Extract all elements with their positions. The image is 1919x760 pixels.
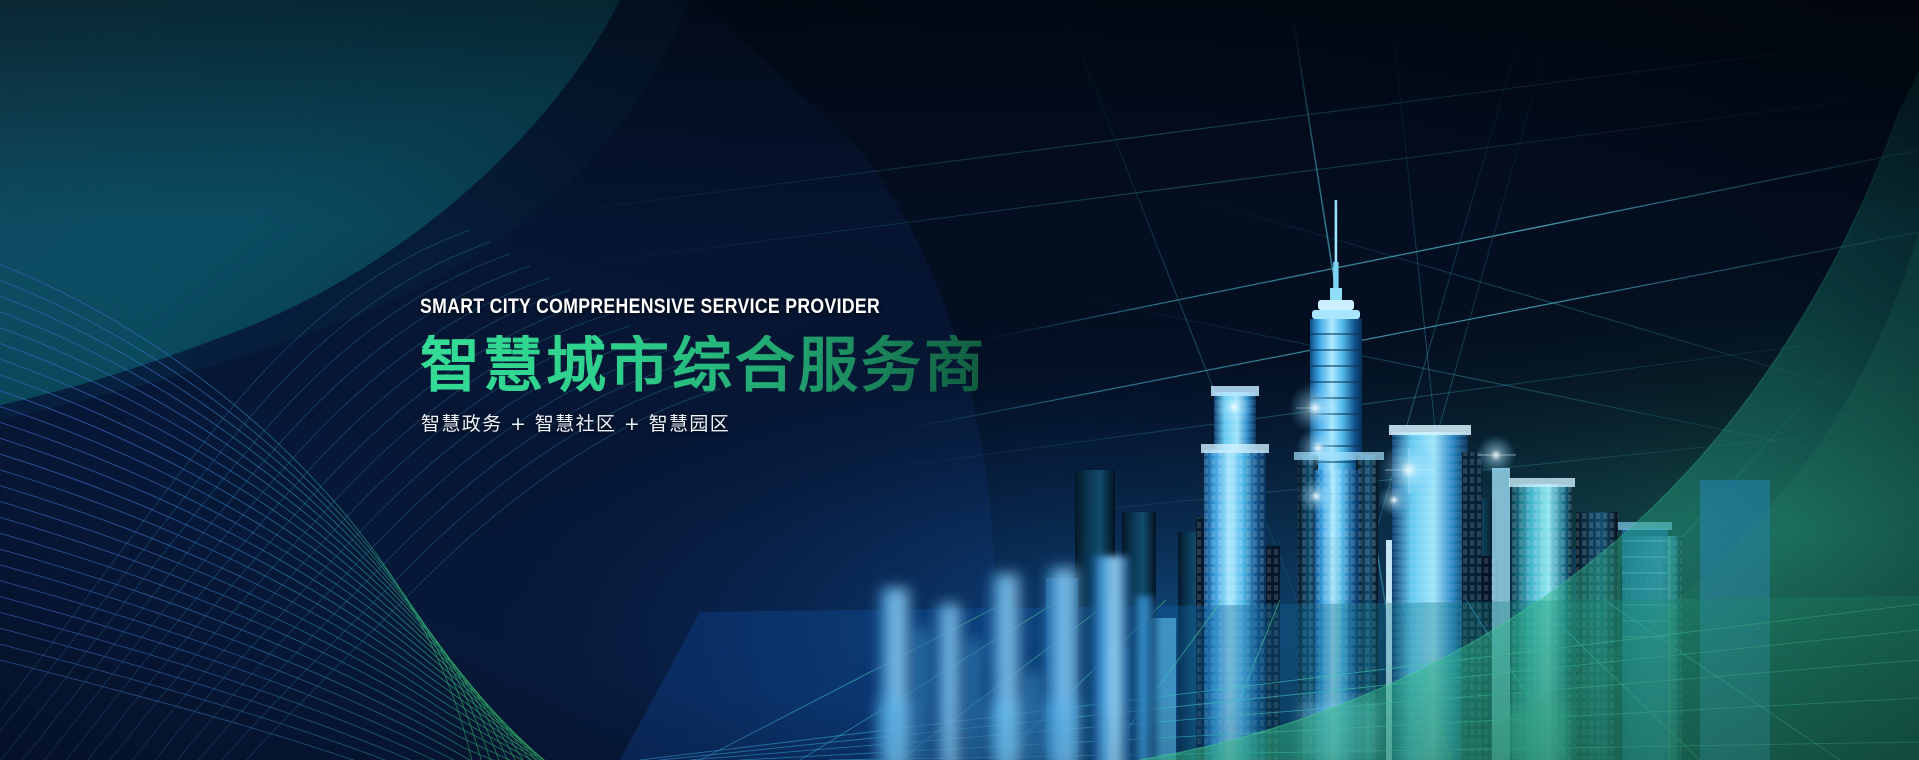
hero-copy-block: SMART CITY COMPREHENSIVE SERVICE PROVIDE… — [420, 296, 987, 434]
hero-eyebrow: SMART CITY COMPREHENSIVE SERVICE PROVIDE… — [420, 296, 896, 317]
hero-banner: SMART CITY COMPREHENSIVE SERVICE PROVIDE… — [0, 0, 1919, 760]
hero-subtitle: 智慧政务 + 智慧社区 + 智慧园区 — [421, 415, 987, 434]
page-title: 智慧城市综合服务商 — [420, 335, 987, 399]
